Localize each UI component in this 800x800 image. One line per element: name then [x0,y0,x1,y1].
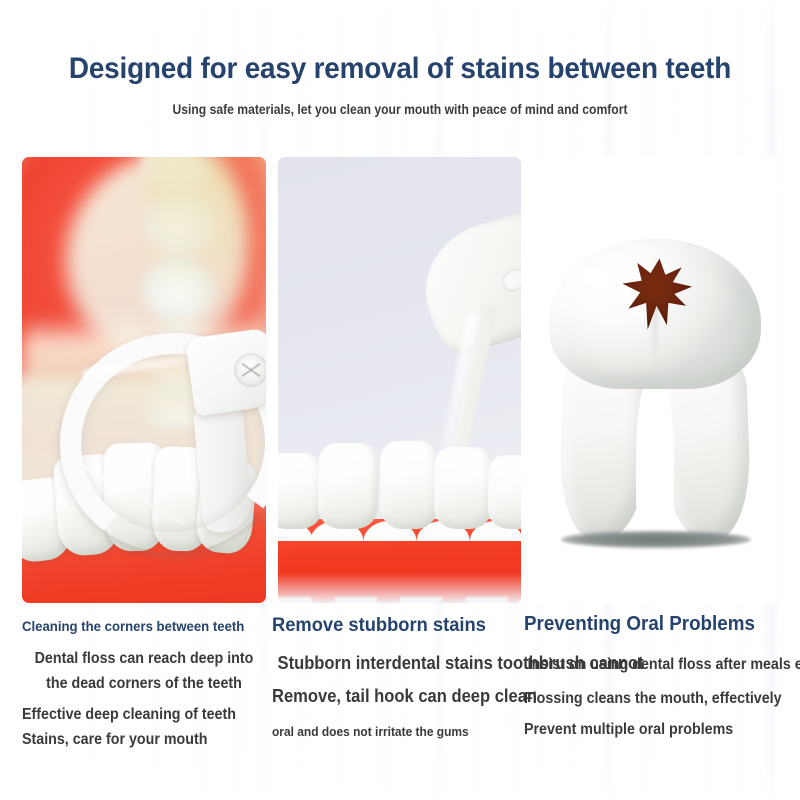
panel2-tooth [488,455,521,529]
product-feature-banner: Designed for easy removal of stains betw… [0,0,800,800]
caption-1-line-2: Stains, care for your mouth [22,727,246,752]
page-subtitle: Using safe materials, let you clean your… [40,86,760,117]
caption-1-line-1: Effective deep cleaning of teeth [22,702,246,727]
caption-1-subtext: Dental floss can reach deep into the dea… [32,646,256,696]
caption-2-line-2: oral and does not irritate the gums [272,718,504,745]
page-title: Designed for easy removal of stains betw… [28,0,772,86]
header: Designed for easy removal of stains betw… [0,0,800,117]
caption-3-line-1: Flossing cleans the mouth, effectively [524,686,760,711]
caption-3-subtext: Insist on using dental floss after meals… [524,652,760,677]
panel2-bottom-fade [278,573,521,603]
caption-column-3: Preventing Oral Problems Insist on using… [524,610,780,742]
panel2-tooth [434,447,492,529]
panel3-molar-highlight [575,265,615,323]
panel2-teeth-row [278,437,521,529]
panel3-cavity-stain [621,257,695,331]
panel2-tooth [380,441,438,529]
photo-panel-pick-tip-on-teeth [278,157,521,603]
panel3-molar [549,239,761,539]
photo-panel-floss-pick-between-teeth [22,157,266,603]
photo-panel-molar-with-cavity [531,157,777,603]
panel1-floss-pick-dial [234,353,266,387]
caption-2-subtext: Stubborn interdental stains toothbrush c… [272,650,504,677]
panel3-molar-crown [549,239,761,389]
caption-3-heading: Preventing Oral Problems [524,610,765,638]
caption-2-line-1: Remove, tail hook can deep clean [272,683,504,710]
caption-column-1: Cleaning the corners between teeth Denta… [22,616,266,752]
panel3-drop-shadow [561,531,751,548]
caption-column-2: Remove stubborn stains Stubborn interden… [272,612,524,745]
panel2-tooth [318,443,378,529]
caption-2-heading: Remove stubborn stains [272,612,509,639]
caption-1-heading: Cleaning the corners between teeth [22,616,251,636]
panel2-tooth [278,453,322,529]
caption-3-line-2: Prevent multiple oral problems [524,717,760,742]
